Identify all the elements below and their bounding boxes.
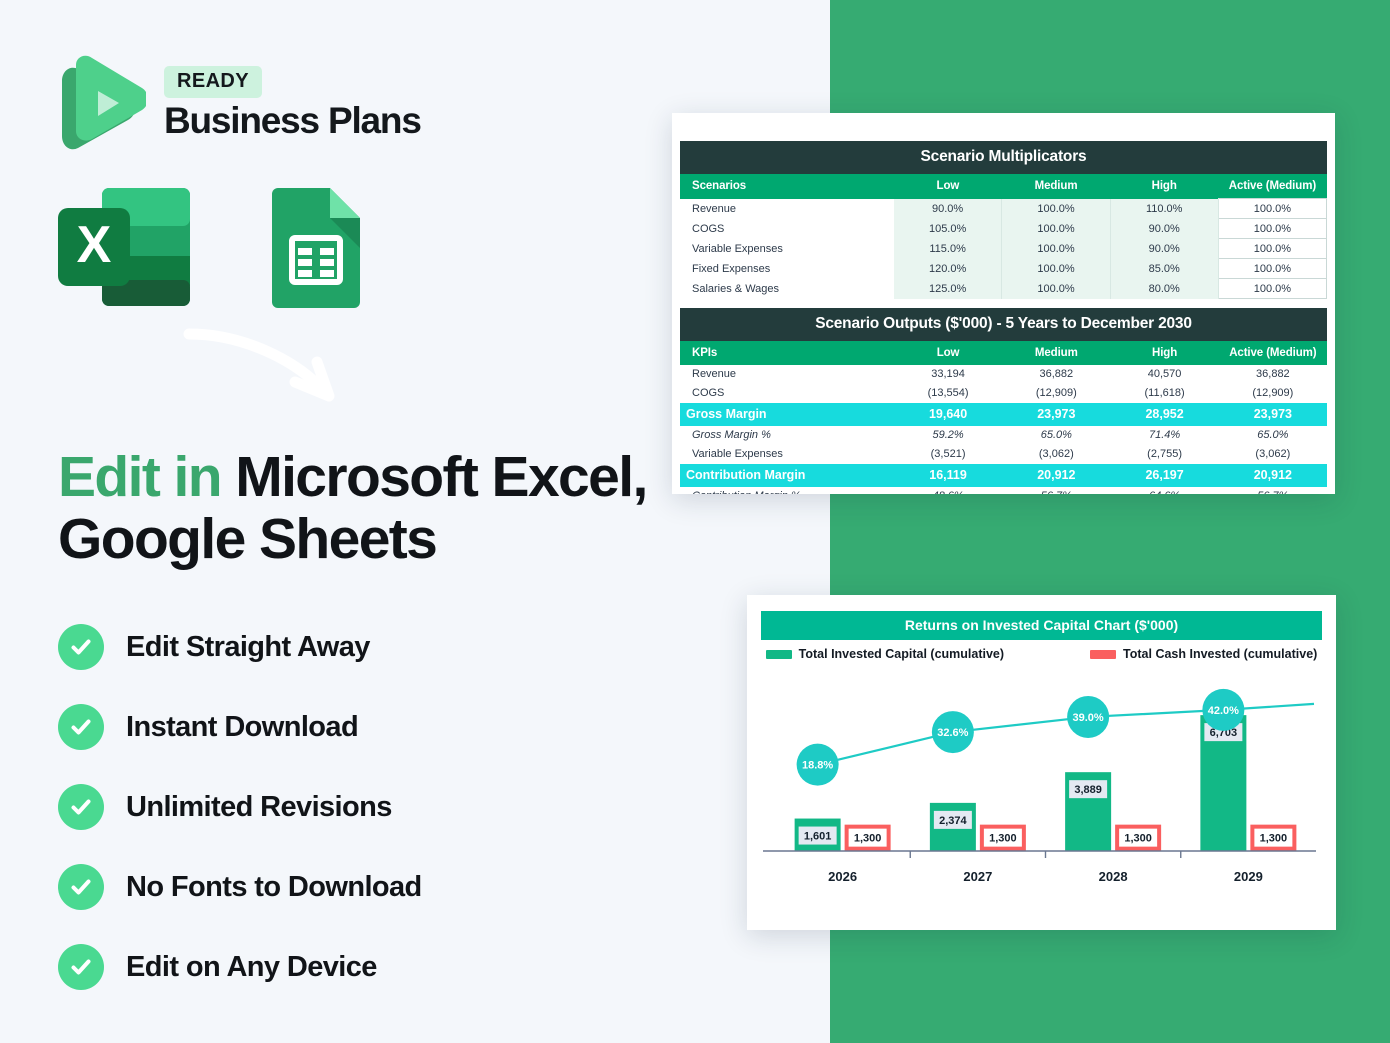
table-row: COGS 105.0% 100.0% 90.0% 100.0%: [680, 219, 1327, 239]
svg-text:42.0%: 42.0%: [1208, 705, 1239, 717]
svg-text:1,300: 1,300: [1124, 833, 1152, 845]
row-label: Gross Margin %: [680, 426, 894, 445]
row-medium: 23,973: [1002, 403, 1110, 426]
promo-graphic: READY Business Plans X: [0, 0, 1390, 1043]
column-header: Low: [894, 341, 1002, 365]
svg-text:1,300: 1,300: [854, 833, 882, 845]
svg-text:2027: 2027: [963, 869, 992, 884]
check-circle-icon: [58, 784, 104, 830]
row-low: 120.0%: [894, 259, 1002, 279]
row-medium: 56.7%: [1002, 487, 1110, 495]
svg-text:1,300: 1,300: [989, 833, 1017, 845]
row-medium: 100.0%: [1002, 199, 1110, 219]
svg-text:39.0%: 39.0%: [1073, 712, 1104, 724]
table-row: Fixed Expenses 120.0% 100.0% 85.0% 100.0…: [680, 259, 1327, 279]
row-high: (2,755): [1110, 445, 1218, 464]
row-medium: 100.0%: [1002, 259, 1110, 279]
column-header: High: [1110, 341, 1218, 365]
svg-text:X: X: [77, 216, 112, 274]
brand-logo-lockup: READY Business Plans: [58, 55, 421, 150]
headline-accent: Edit in: [58, 445, 221, 509]
row-medium: 20,912: [1002, 464, 1110, 487]
legend-label: Total Cash Invested (cumulative): [1123, 647, 1317, 661]
row-high: 40,570: [1110, 365, 1218, 384]
table-row: Revenue 33,194 36,882 40,570 36,882: [680, 365, 1327, 384]
row-active[interactable]: 100.0%: [1218, 259, 1326, 279]
svg-text:32.6%: 32.6%: [937, 727, 968, 739]
svg-text:2028: 2028: [1099, 869, 1128, 884]
row-label: Contribution Margin: [680, 464, 894, 487]
scenario-outputs-table: KPIs Low Medium High Active (Medium) Rev…: [680, 341, 1327, 495]
roic-chart-svg: 1,6011,3002,3741,3003,8891,3006,7031,300…: [761, 665, 1322, 897]
checklist-label: Edit Straight Away: [126, 631, 370, 664]
svg-text:1,601: 1,601: [804, 831, 832, 843]
app-icons-row: X: [56, 186, 362, 308]
chart-title: Returns on Invested Capital Chart ($'000…: [761, 611, 1322, 640]
legend-label: Total Invested Capital (cumulative): [799, 647, 1004, 661]
column-header: Scenarios: [680, 174, 894, 199]
checklist-label: Unlimited Revisions: [126, 791, 392, 824]
row-low: 33,194: [894, 365, 1002, 384]
svg-text:1,300: 1,300: [1260, 833, 1288, 845]
row-low: 125.0%: [894, 279, 1002, 299]
scenario-multiplicators-table: Scenarios Low Medium High Active (Medium…: [680, 174, 1327, 308]
list-item: Edit Straight Away: [58, 620, 422, 674]
row-active[interactable]: 100.0%: [1218, 279, 1326, 299]
table-row: Variable Expenses 115.0% 100.0% 90.0% 10…: [680, 239, 1327, 259]
check-circle-icon: [58, 624, 104, 670]
list-item: Instant Download: [58, 700, 422, 754]
row-low: 48.6%: [894, 487, 1002, 495]
row-active: 20,912: [1219, 464, 1327, 487]
table-row-highlight: Contribution Margin 16,119 20,912 26,197…: [680, 464, 1327, 487]
row-low: 90.0%: [894, 199, 1002, 219]
spacer-row: [680, 299, 1327, 308]
row-high: 71.4%: [1110, 426, 1218, 445]
row-low: 59.2%: [894, 426, 1002, 445]
row-label: Salaries & Wages: [680, 279, 894, 299]
row-low: 115.0%: [894, 239, 1002, 259]
row-high: 90.0%: [1110, 219, 1218, 239]
table-row-highlight: Gross Margin 19,640 23,973 28,952 23,973: [680, 403, 1327, 426]
legend-item-invested-capital: Total Invested Capital (cumulative): [766, 647, 1004, 661]
svg-text:2029: 2029: [1234, 869, 1263, 884]
play-triangle-logo-icon: [58, 55, 146, 150]
chart-plot-area: 1,6011,3002,3741,3003,8891,3006,7031,300…: [761, 665, 1322, 897]
row-label: Variable Expenses: [680, 239, 894, 259]
svg-text:2026: 2026: [828, 869, 857, 884]
row-active[interactable]: 100.0%: [1218, 199, 1326, 219]
row-label: COGS: [680, 219, 894, 239]
row-high: 80.0%: [1110, 279, 1218, 299]
row-medium: 36,882: [1002, 365, 1110, 384]
row-active: 65.0%: [1219, 426, 1327, 445]
row-high: 28,952: [1110, 403, 1218, 426]
column-header: KPIs: [680, 341, 894, 365]
svg-text:3,889: 3,889: [1074, 784, 1102, 796]
row-active: 23,973: [1219, 403, 1327, 426]
svg-text:18.8%: 18.8%: [802, 760, 833, 772]
row-low: 105.0%: [894, 219, 1002, 239]
column-header: Medium: [1002, 341, 1110, 365]
checklist-label: No Fonts to Download: [126, 871, 422, 904]
ready-badge: READY: [164, 66, 262, 98]
checklist-label: Instant Download: [126, 711, 358, 744]
scenario-outputs-title: Scenario Outputs ($'000) - 5 Years to De…: [680, 308, 1327, 341]
legend-swatch-icon: [1090, 650, 1116, 659]
row-active[interactable]: 100.0%: [1218, 219, 1326, 239]
row-active: 56.7%: [1219, 487, 1327, 495]
row-medium: 100.0%: [1002, 219, 1110, 239]
row-low: (13,554): [894, 384, 1002, 403]
microsoft-excel-icon: X: [56, 186, 192, 308]
scenario-multiplicators-title: Scenario Multiplicators: [680, 141, 1327, 174]
table-row: Variable Expenses (3,521) (3,062) (2,755…: [680, 445, 1327, 464]
check-circle-icon: [58, 704, 104, 750]
row-active: 36,882: [1219, 365, 1327, 384]
column-header: Low: [894, 174, 1002, 199]
column-header: Medium: [1002, 174, 1110, 199]
table-row: Contribution Margin % 48.6% 56.7% 64.6% …: [680, 487, 1327, 495]
table-row: Revenue 90.0% 100.0% 110.0% 100.0%: [680, 199, 1327, 219]
check-circle-icon: [58, 944, 104, 990]
check-circle-icon: [58, 864, 104, 910]
row-label: Revenue: [680, 199, 894, 219]
row-medium: (12,909): [1002, 384, 1110, 403]
brand-name: Business Plans: [164, 102, 421, 139]
curved-arrow-icon: [183, 326, 363, 412]
row-low: 19,640: [894, 403, 1002, 426]
row-low: 16,119: [894, 464, 1002, 487]
table-header-row: Scenarios Low Medium High Active (Medium…: [680, 174, 1327, 199]
table-row: Gross Margin % 59.2% 65.0% 71.4% 65.0%: [680, 426, 1327, 445]
svg-text:2,374: 2,374: [939, 815, 967, 827]
page-title: Edit in Microsoft Excel, Google Sheets: [58, 447, 758, 570]
row-high: 110.0%: [1110, 199, 1218, 219]
row-active: (3,062): [1219, 445, 1327, 464]
row-high: 90.0%: [1110, 239, 1218, 259]
column-header: Active (Medium): [1218, 174, 1326, 199]
row-medium: (3,062): [1002, 445, 1110, 464]
table-row: Salaries & Wages 125.0% 100.0% 80.0% 100…: [680, 279, 1327, 299]
row-label: COGS: [680, 384, 894, 403]
row-label: Variable Expenses: [680, 445, 894, 464]
brand-text-block: READY Business Plans: [164, 66, 421, 139]
row-medium: 65.0%: [1002, 426, 1110, 445]
row-medium: 100.0%: [1002, 279, 1110, 299]
checklist-label: Edit on Any Device: [126, 951, 377, 984]
chart-legend: Total Invested Capital (cumulative) Tota…: [761, 640, 1322, 665]
table-row: COGS (13,554) (12,909) (11,618) (12,909): [680, 384, 1327, 403]
legend-swatch-icon: [766, 650, 792, 659]
row-high: (11,618): [1110, 384, 1218, 403]
list-item: No Fonts to Download: [58, 860, 422, 914]
row-medium: 100.0%: [1002, 239, 1110, 259]
scenario-tables-card: Scenario Multiplicators Scenarios Low Me…: [672, 113, 1335, 494]
row-high: 64.6%: [1110, 487, 1218, 495]
legend-item-cash-invested: Total Cash Invested (cumulative): [1090, 647, 1317, 661]
table-header-row: KPIs Low Medium High Active (Medium): [680, 341, 1327, 365]
row-active[interactable]: 100.0%: [1218, 239, 1326, 259]
row-low: (3,521): [894, 445, 1002, 464]
row-active: (12,909): [1219, 384, 1327, 403]
row-high: 85.0%: [1110, 259, 1218, 279]
feature-checklist: Edit Straight Away Instant Download Unli…: [58, 620, 422, 994]
google-sheets-icon: [270, 186, 362, 308]
list-item: Unlimited Revisions: [58, 780, 422, 834]
row-label: Revenue: [680, 365, 894, 384]
row-label: Fixed Expenses: [680, 259, 894, 279]
row-high: 26,197: [1110, 464, 1218, 487]
column-header: Active (Medium): [1219, 341, 1327, 365]
column-header: High: [1110, 174, 1218, 199]
roic-chart-card: Returns on Invested Capital Chart ($'000…: [747, 595, 1336, 930]
row-label: Contribution Margin %: [680, 487, 894, 495]
row-label: Gross Margin: [680, 403, 894, 426]
list-item: Edit on Any Device: [58, 940, 422, 994]
